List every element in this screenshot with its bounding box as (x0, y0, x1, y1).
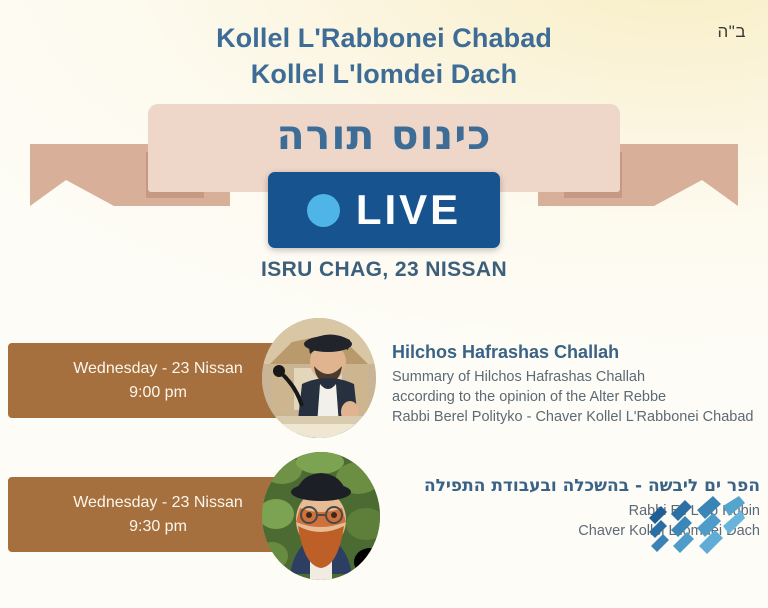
session-date: Wednesday - 23 Nissan (73, 491, 243, 515)
event-subtitle: ISRU CHAG, 23 NISSAN (0, 258, 768, 282)
session-detail: Summary of Hilchos Hafrashas Challah (392, 367, 768, 387)
session-speaker: Rabbi Berel Polityko - Chaver Kollel L'R… (392, 407, 768, 427)
rabbi-outdoor-portrait-photo-icon (262, 452, 380, 580)
live-label: LIVE (356, 189, 461, 231)
speaker-avatar (262, 318, 376, 438)
event-flyer: ב"ה Kollel L'Rabbonei Chabad Kollel L'lo… (0, 0, 768, 608)
session-detail: according to the opinion of the Alter Re… (392, 387, 768, 407)
session-date: Wednesday - 23 Nissan (73, 357, 243, 381)
rabbi-at-podium-photo-icon (262, 318, 376, 438)
session-row: Wednesday - 23 Nissan 9:00 pm (0, 318, 768, 446)
live-badge[interactable]: LIVE (268, 172, 500, 248)
session-title: Hilchos Hafrashas Challah (392, 340, 768, 365)
org-title-line-2: Kollel L'lomdei Dach (0, 56, 768, 92)
org-title-line-1: Kollel L'Rabbonei Chabad (0, 20, 768, 56)
ribbon-hebrew-title: כינוס תורה (0, 104, 768, 166)
live-indicator-dot-icon (307, 194, 340, 227)
page-title: Kollel L'Rabbonei Chabad Kollel L'lomdei… (0, 20, 768, 92)
session-time: 9:30 pm (129, 515, 187, 539)
session-info: Hilchos Hafrashas Challah Summary of Hil… (392, 340, 768, 427)
session-time: 9:00 pm (129, 381, 187, 405)
speaker-avatar (262, 452, 380, 580)
kollel-slashes-logo-icon (645, 496, 745, 558)
